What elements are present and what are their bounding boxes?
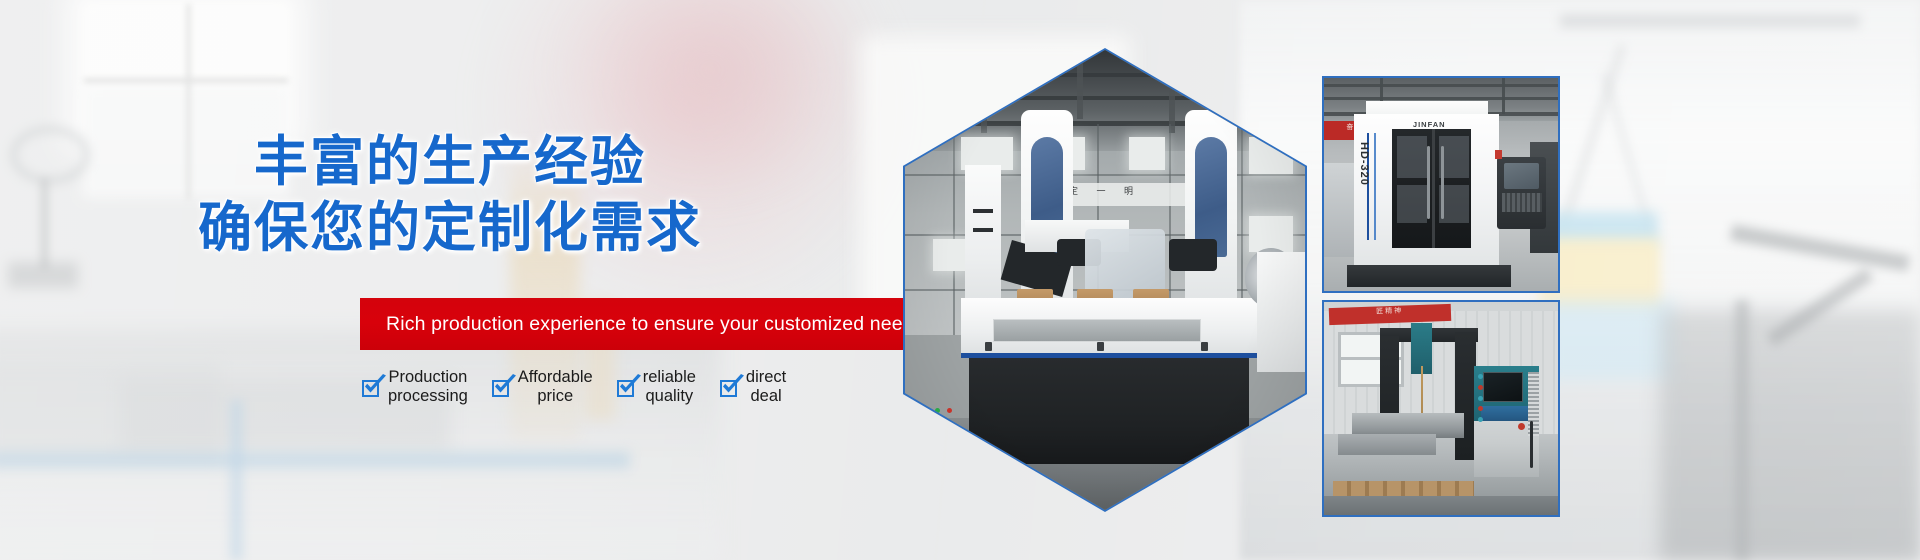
checkbox-checked-icon [362,380,379,397]
mc-door-handle [1427,146,1430,218]
feature-label: Affordable price [518,368,593,406]
hero-photo-clip: 定 一 明 [905,50,1305,510]
feature-label-line-2: processing [388,387,468,406]
feature-list: Production processing Affordable price [362,368,882,406]
feature-item-direct-deal[interactable]: direct deal [720,368,786,406]
ed-floor [1324,496,1558,515]
subtitle-text: Rich production experience to ensure you… [360,313,924,336]
mc-roof-beam [1324,97,1558,100]
subtitle-ribbon: Rich production experience to ensure you… [360,298,905,350]
mc-roof-post [1502,78,1505,114]
cnc-wire-cut-edm-machine-photo: 匠精神 [1324,302,1558,515]
checkbox-checked-icon [720,380,737,397]
mc-door-glass [1397,136,1427,179]
headline: 丰富的生产经验 确保您的定制化需求 [0,128,900,260]
mc-left-equipment [1324,163,1354,257]
mc-control-screen [1504,163,1539,189]
feature-item-production-processing[interactable]: Production processing [362,368,468,406]
side-image-upper[interactable]: 奋力 JINFAN HD-320 [1322,76,1560,293]
feature-label-line-1: reliable [643,368,696,387]
checkbox-checked-icon [492,380,509,397]
mc-accent-stripe-2 [1374,133,1376,240]
hero-hexagon-image[interactable]: 定 一 明 [903,48,1307,512]
mc-roof-beam [1324,84,1558,87]
headline-line-1: 丰富的生产经验 [0,128,900,194]
mc-plinth [1347,265,1511,286]
mc-door-split [1432,129,1436,248]
photo-vignette [905,50,1305,510]
ed-wall-sign-text: 匠精神 [1328,304,1450,320]
hd-320-machining-center-photo: 奋力 JINFAN HD-320 [1324,78,1558,291]
mc-door-glass [1397,185,1427,223]
mc-control-keypad [1502,193,1542,212]
feature-label-line-2: deal [746,387,786,406]
feature-label-line-2: price [518,387,593,406]
ed-cable [1530,421,1533,468]
ed-control-monitor [1483,372,1523,402]
feature-label-line-2: quality [643,387,696,406]
feature-label-line-1: Affordable [518,368,593,387]
side-image-lower[interactable]: 匠精神 [1322,300,1560,517]
cnc-double-column-machining-center-photo: 定 一 明 [905,50,1305,510]
feature-label: direct deal [746,368,786,406]
feature-label-line-1: Production [388,368,468,387]
mc-model-label: HD-320 [1358,142,1370,186]
feature-label-line-1: direct [746,368,786,387]
feature-item-affordable-price[interactable]: Affordable price [492,368,593,406]
promo-banner: 丰富的生产经验 确保您的定制化需求 Rich production experi… [0,0,1920,560]
feature-item-reliable-quality[interactable]: reliable quality [617,368,696,406]
feature-label: reliable quality [643,368,696,406]
mc-brand-label: JINFAN [1413,120,1446,129]
feature-label: Production processing [388,368,468,406]
checkbox-checked-icon [617,380,634,397]
side-image-column: 奋力 JINFAN HD-320 [1322,76,1560,517]
mc-door-handle [1441,146,1444,218]
ed-work-table-lower [1338,434,1436,455]
headline-line-2: 确保您的定制化需求 [0,194,900,260]
mc-emergency-stop [1495,150,1502,159]
ed-control-keypad [1481,406,1528,421]
